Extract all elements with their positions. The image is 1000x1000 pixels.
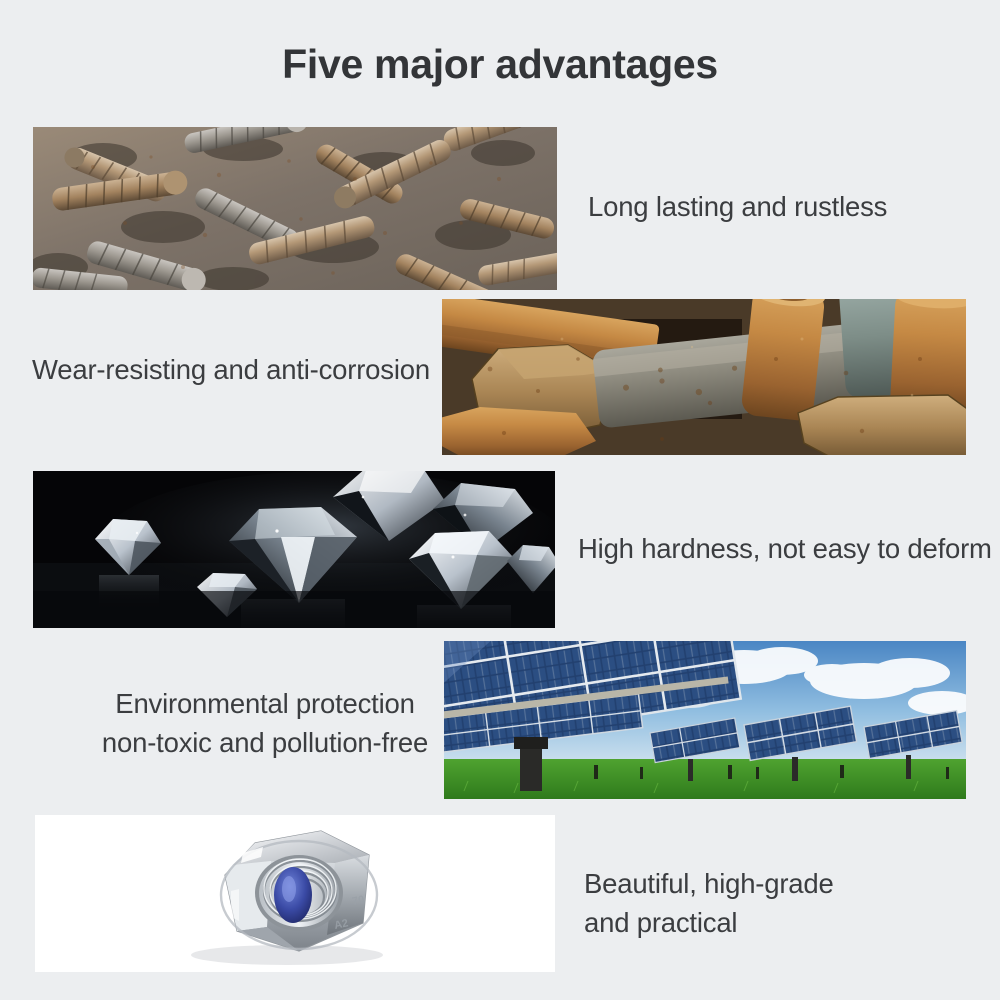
advantage-caption-5: Beautiful, high-grade and practical (584, 864, 924, 942)
advantage-row-1: Long lasting and rustless (0, 127, 1000, 291)
rusty-screws-photo (33, 127, 557, 290)
hex-nut-photo: A2 70 (35, 815, 555, 972)
advantage-caption-1: Long lasting and rustless (588, 187, 968, 226)
advantage-row-3: High hardness, not easy to deform (0, 471, 1000, 629)
svg-text:70: 70 (351, 894, 365, 908)
advantage-row-2: Wear-resisting and anti-corrosion (0, 299, 1000, 456)
page-title: Five major advantages (0, 42, 1000, 87)
advantage-caption-2: Wear-resisting and anti-corrosion (32, 350, 432, 389)
rusty-pipes-photo (442, 299, 966, 455)
solar-panels-photo (444, 641, 966, 799)
advantage-row-4: Environmental protection non-toxic and p… (0, 641, 1000, 800)
infographic-page: Five major advantages (0, 0, 1000, 1000)
advantage-caption-4: Environmental protection non-toxic and p… (100, 684, 430, 762)
diamonds-photo (33, 471, 555, 628)
advantage-caption-3: High hardness, not easy to deform (578, 529, 994, 568)
advantage-row-5: A2 70 Beautiful, high-grade and practica… (0, 815, 1000, 973)
